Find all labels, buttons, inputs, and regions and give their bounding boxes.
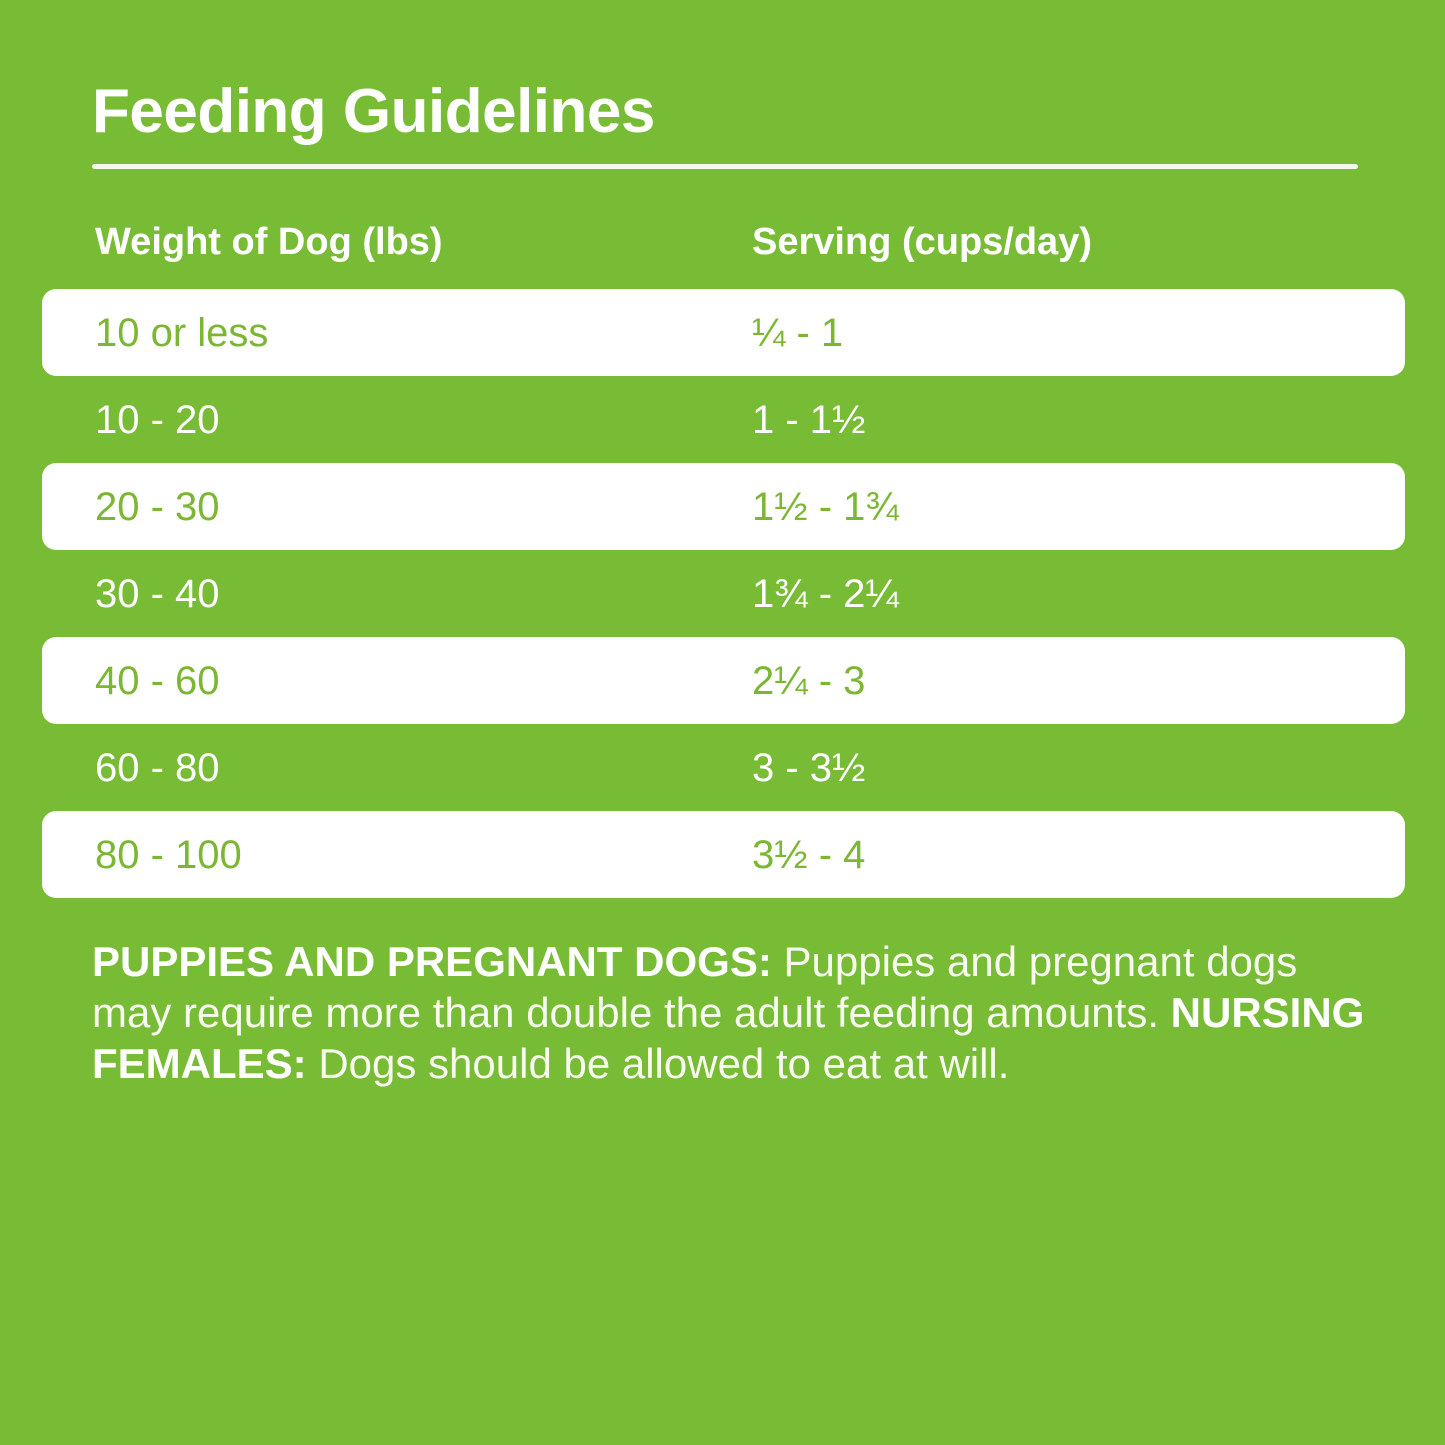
feeding-guidelines-panel: Feeding Guidelines Weight of Dog (lbs) S… [0, 0, 1445, 1445]
cell-serving: 1½ - 1¾ [752, 484, 899, 530]
cell-serving: 1¾ - 2¼ [752, 571, 899, 617]
table-row: 30 - 40 1¾ - 2¼ [0, 550, 1445, 637]
cell-weight: 20 - 30 [95, 484, 220, 530]
table-body: 10 or less ¼ - 1 10 - 20 1 - 1½ 20 - 30 … [0, 289, 1445, 898]
table-header-row: Weight of Dog (lbs) Serving (cups/day) [0, 206, 1445, 289]
table-row: 40 - 60 2¼ - 3 [42, 637, 1405, 724]
table-row: 60 - 80 3 - 3½ [0, 724, 1445, 811]
cell-weight: 60 - 80 [95, 745, 220, 791]
table-row: 80 - 100 3½ - 4 [42, 811, 1405, 898]
table-row: 20 - 30 1½ - 1¾ [42, 463, 1405, 550]
cell-weight: 40 - 60 [95, 658, 220, 704]
column-header-weight: Weight of Dog (lbs) [95, 218, 443, 266]
cell-serving: 1 - 1½ [752, 397, 865, 443]
note-text-nursing: Dogs should be allowed to eat at will. [307, 1040, 1010, 1087]
cell-weight: 10 - 20 [95, 397, 220, 443]
cell-serving: 3 - 3½ [752, 745, 865, 791]
cell-weight: 10 or less [95, 310, 268, 356]
table-row: 10 or less ¼ - 1 [42, 289, 1405, 376]
cell-serving: 2¼ - 3 [752, 658, 865, 704]
column-header-serving: Serving (cups/day) [752, 218, 1092, 266]
cell-weight: 80 - 100 [95, 832, 242, 878]
cell-serving: ¼ - 1 [752, 310, 843, 356]
cell-serving: 3½ - 4 [752, 832, 865, 878]
feeding-note: PUPPIES AND PREGNANT DOGS: Puppies and p… [92, 936, 1382, 1089]
title-divider [92, 164, 1358, 169]
page-title: Feeding Guidelines [92, 76, 655, 148]
cell-weight: 30 - 40 [95, 571, 220, 617]
feeding-table: Weight of Dog (lbs) Serving (cups/day) 1… [0, 206, 1445, 898]
table-row: 10 - 20 1 - 1½ [0, 376, 1445, 463]
note-label-puppies: PUPPIES AND PREGNANT DOGS: [92, 938, 772, 985]
